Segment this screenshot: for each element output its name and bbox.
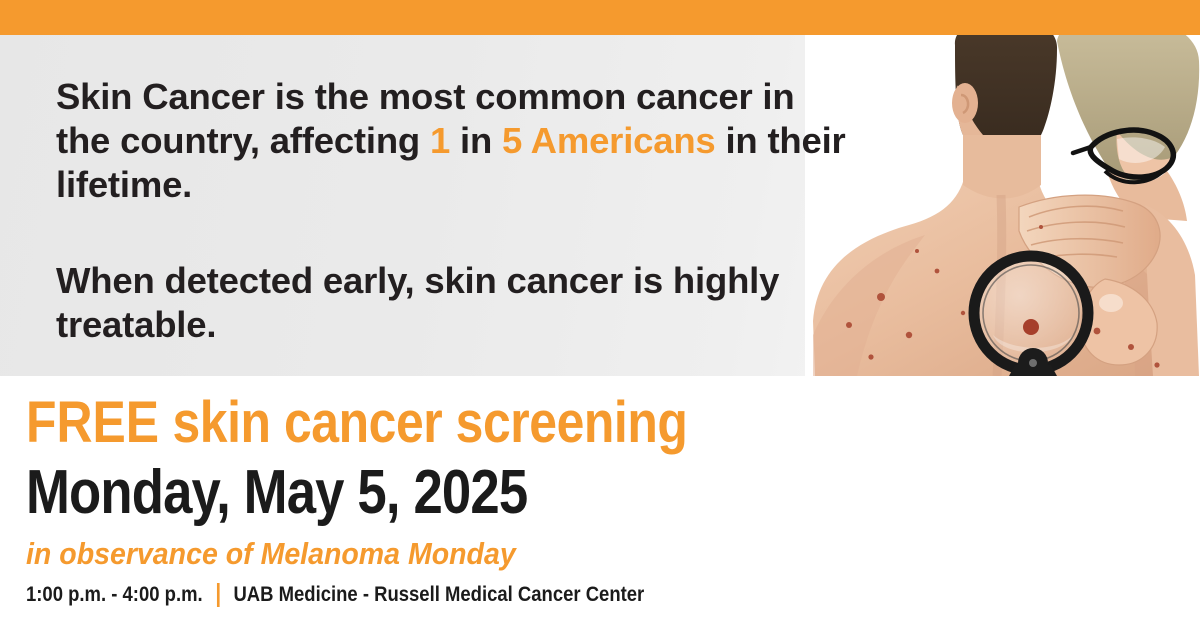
free-headline-rest: skin cancer screening	[159, 390, 687, 455]
skin-cancer-screening-banner: Skin Cancer is the most common cancer in…	[0, 0, 1200, 628]
lower-panel: FREE skin cancer screening Monday, May 5…	[0, 376, 1200, 628]
event-location: UAB Medicine - Russell Medical Cancer Ce…	[233, 582, 644, 608]
top-accent-bar	[0, 0, 1200, 35]
free-word: FREE	[26, 390, 159, 455]
statistic-highlight-five-americans: 5 Americans	[502, 120, 716, 161]
event-time: 1:00 p.m. - 4:00 p.m.	[26, 582, 203, 608]
event-date: Monday, May 5, 2025	[26, 460, 527, 526]
treatable-text: When detected early, skin cancer is high…	[56, 259, 856, 347]
upper-copy-block: Skin Cancer is the most common cancer in…	[56, 75, 856, 347]
upper-panel: Skin Cancer is the most common cancer in…	[0, 35, 1200, 376]
event-details: 1:00 p.m. - 4:00 p.m. UAB Medicine - Rus…	[26, 582, 644, 608]
observance-note: in observance of Melanoma Monday	[26, 536, 516, 572]
free-screening-headline: FREE skin cancer screening	[26, 393, 687, 453]
detail-divider	[217, 583, 220, 607]
statistic-part-2: in	[450, 120, 502, 161]
statistic-highlight-one: 1	[430, 120, 450, 161]
statistic-text: Skin Cancer is the most common cancer in…	[56, 75, 856, 207]
patient-examination-photo	[805, 35, 1200, 376]
